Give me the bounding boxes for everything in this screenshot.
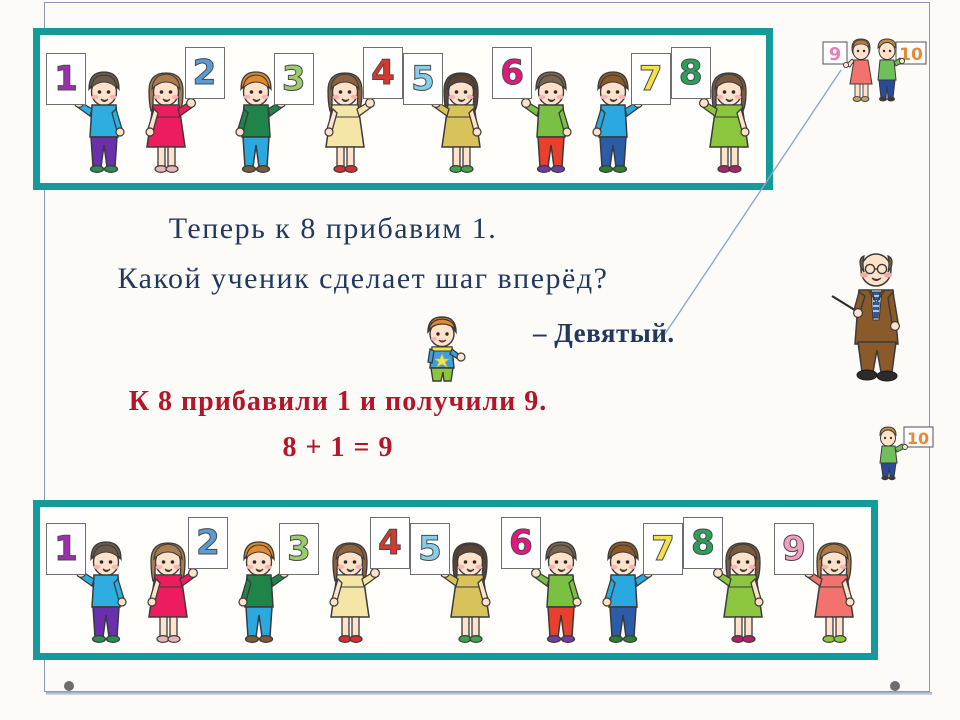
number-card-7: 7 [631,53,671,105]
slide-frame-shadow [46,692,932,695]
question-line-2: Какой ученик сделает шаг вперёд? [33,262,693,296]
bottom-student-6: 6 [501,517,592,651]
lesson-text-block: Теперь к 8 прибавим 1. Какой ученик сдел… [33,200,773,492]
slide-root: 1 2 [0,0,960,720]
bottom-student-3: 3 [228,517,319,651]
bottom-student-9: 9 [774,517,865,651]
number-card-3: 3 [279,523,319,575]
answering-boy-illustration [416,312,468,384]
top-student-8: 8 [671,47,760,181]
top-student-6: 6 [492,47,581,181]
answer-text: – Девятый. [533,318,675,349]
number-card-1: 1 [46,523,86,575]
bottom-student-8: 8 [683,517,774,651]
svg-text:10: 10 [907,429,929,448]
top-student-3: 3 [225,47,314,181]
teacher-with-pointer-illustration [828,248,914,384]
bottom-student-5: 5 [410,517,501,651]
number-card-9: 9 [774,523,814,575]
bottom-student-row: 1 2 [40,507,871,653]
bottom-student-7: 7 [592,517,683,651]
number-card-8: 8 [671,47,711,99]
number-card-1: 1 [46,53,86,105]
bottom-student-1: 1 [46,517,137,651]
number-card-2: 2 [185,47,225,99]
bottom-right-dot [890,681,900,691]
number-card-7: 7 [643,523,683,575]
top-student-7: 7 [582,47,671,181]
number-card-4: 4 [370,517,410,569]
top-student-4: 4 [314,47,403,181]
question-line-1: Теперь к 8 прибавим 1. [33,212,633,246]
number-card-8: 8 [683,517,723,569]
equation-text: 8 + 1 = 9 [33,432,643,464]
number-card-6: 6 [501,517,541,569]
top-student-row-panel: 1 2 [33,28,773,190]
single-student-with-10-illustration: 10 [872,425,934,481]
top-student-5: 5 [403,47,492,181]
number-card-5: 5 [403,53,443,105]
pair-with-9-and-10-illustration: 9 10 [822,36,928,114]
number-card-4: 4 [363,47,403,99]
number-card-5: 5 [410,523,450,575]
top-student-1: 1 [46,47,135,181]
top-student-2: 2 [135,47,224,181]
number-card-2: 2 [188,517,228,569]
number-card-6: 6 [492,47,532,99]
number-card-3: 3 [274,53,314,105]
bottom-student-row-panel: 1 2 [33,500,878,660]
bottom-student-4: 4 [319,517,410,651]
top-student-row: 1 2 [40,35,766,183]
bottom-left-dot [64,681,74,691]
svg-text:9: 9 [829,44,842,65]
bottom-student-2: 2 [137,517,228,651]
result-sentence: К 8 прибавили 1 и получили 9. [33,386,643,418]
